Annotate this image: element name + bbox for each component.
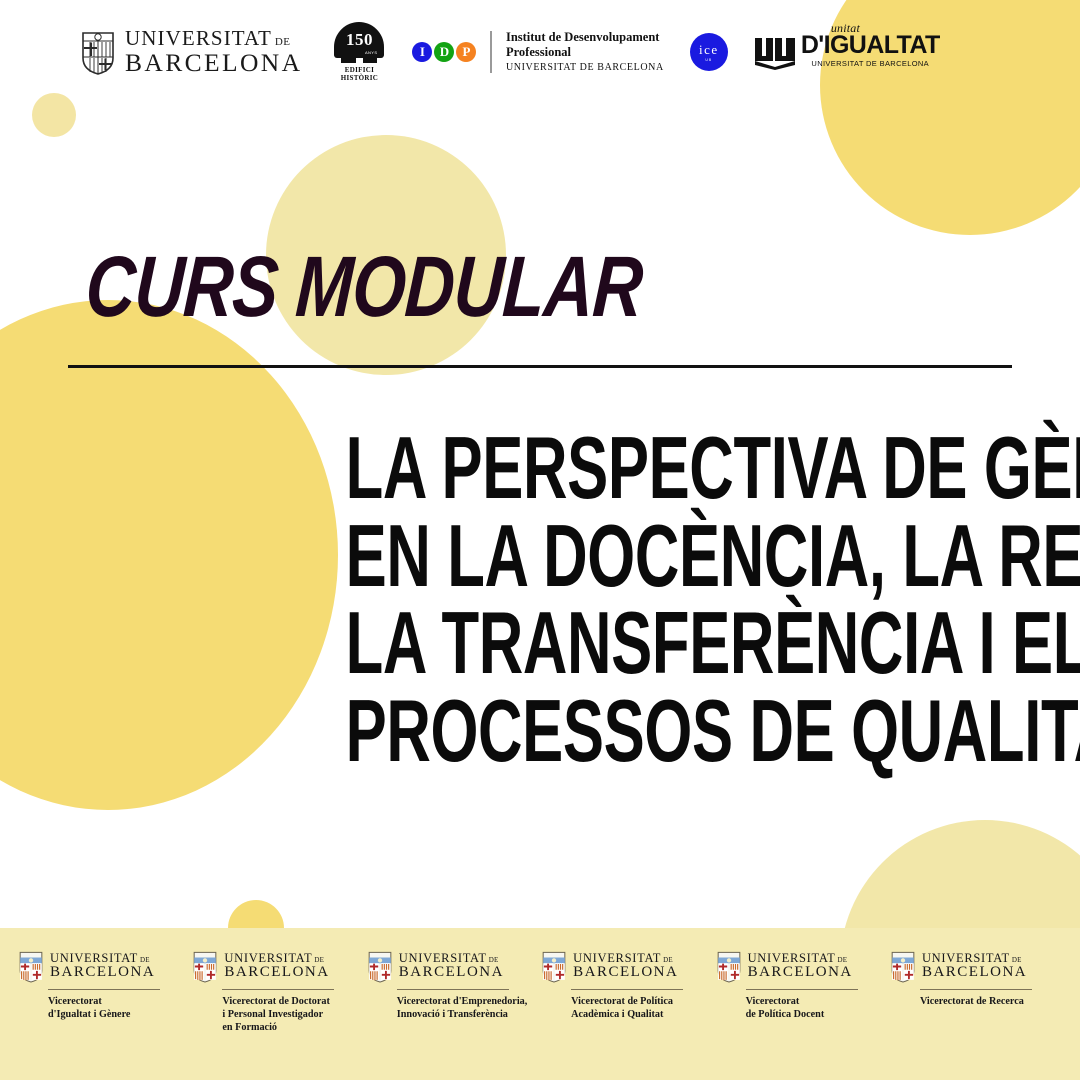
logo-edifici-historic-150: 150 ANYS EDIFICI HISTÒRIC — [334, 22, 384, 83]
kicker-curs-modular: CURS MODULAR — [84, 244, 645, 330]
headline-block: LA PERSPECTIVA DE GÈNERE EN LA DOCÈNCIA,… — [60, 424, 1012, 774]
dome-legs-icon — [334, 58, 384, 63]
open-book-icon — [754, 34, 798, 70]
idp-letter-d: D — [434, 42, 454, 62]
ub-line1-suffix: DE — [275, 37, 290, 48]
ub-line2: BARCELONA — [125, 50, 302, 76]
footer-logo-politica-docent: UNIVERSITAT DE BARCELONA Vicerectoratde … — [716, 950, 888, 1021]
footer-divider — [571, 989, 683, 990]
ub-shield-icon — [192, 950, 218, 983]
footer-logo-igualtat-genere: UNIVERSITAT DE BARCELONA Vicerectoratd'I… — [18, 950, 190, 1021]
ub-shield-icon — [80, 30, 116, 75]
idp-title-line1: Institut de Desenvolupament — [506, 30, 664, 45]
footer-divider — [222, 989, 334, 990]
ub-shield-icon — [716, 950, 742, 983]
edifici-caption-line1: EDIFICI — [341, 66, 378, 74]
ub-shield-icon — [367, 950, 393, 983]
logo-unitat-digualtat: unitat D'IGUALTAT UNIVERSITAT DE BARCELO… — [754, 34, 940, 70]
dome-icon: 150 ANYS — [334, 22, 384, 58]
logo-universitat-de-barcelona: UNIVERSITAT DE BARCELONA — [80, 28, 302, 75]
footer-ub-line2: BARCELONA — [399, 965, 504, 980]
footer-logo-doctorat: UNIVERSITAT DE BARCELONA Vicerectorat de… — [192, 950, 364, 1034]
footer-divider — [746, 989, 858, 990]
logo-idp: I D P — [412, 42, 476, 62]
idp-wordmark: Institut de Desenvolupament Professional… — [506, 30, 664, 75]
horizontal-rule — [68, 365, 1012, 368]
footer-ub-line2: BARCELONA — [50, 965, 155, 980]
idp-letter-i: I — [412, 42, 432, 62]
unitat-subtitle: UNIVERSITAT DE BARCELONA — [801, 59, 940, 68]
dome-number: 150 — [346, 30, 373, 50]
idp-title-line2: Professional — [506, 45, 664, 60]
header-logo-strip: UNIVERSITAT DE BARCELONA 150 ANYS EDIFIC… — [0, 0, 1080, 104]
ub-line1: UNIVERSITAT — [125, 28, 272, 49]
idp-letter-p: P — [456, 42, 476, 62]
logo-ice: ice UB — [690, 33, 728, 71]
footer-caption: Vicerectorat de Doctorati Personal Inves… — [222, 995, 329, 1034]
footer-caption: Vicerectorat de PolíticaAcadèmica i Qual… — [571, 995, 673, 1021]
footer-logo-band: UNIVERSITAT DE BARCELONA Vicerectoratd'I… — [0, 928, 1080, 1080]
footer-logo-politica-academica: UNIVERSITAT DE BARCELONA Vicerectorat de… — [541, 950, 713, 1021]
poster-root: UNIVERSITAT DE BARCELONA 150 ANYS EDIFIC… — [0, 0, 1080, 1080]
footer-logo-emprenedoria: UNIVERSITAT DE BARCELONA Vicerectorat d'… — [367, 950, 539, 1021]
edifici-caption-line2: HISTÒRIC — [341, 74, 378, 82]
digualtat-word: D'IGUALTAT — [801, 31, 940, 59]
footer-caption: Vicerectoratde Política Docent — [746, 995, 825, 1021]
footer-divider — [920, 989, 1032, 990]
footer-logo-recerca: UNIVERSITAT DE BARCELONA Vicerectorat de… — [890, 950, 1062, 1008]
ice-word: ice — [699, 43, 719, 56]
footer-ub-line2: BARCELONA — [922, 965, 1027, 980]
footer-caption: Vicerectorat de Recerca — [920, 995, 1024, 1008]
headline-line-1: LA PERSPECTIVA DE GÈNERE — [346, 424, 1012, 512]
footer-ub-line2: BARCELONA — [573, 965, 678, 980]
footer-ub-line2: BARCELONA — [748, 965, 853, 980]
ub-shield-icon — [541, 950, 567, 983]
footer-caption: Vicerectoratd'Igualtat i Gènere — [48, 995, 130, 1021]
headline-line-4: PROCESSOS DE QUALITAT — [346, 687, 1012, 775]
ub-shield-icon — [890, 950, 916, 983]
footer-ub-line2: BARCELONA — [224, 965, 329, 980]
footer-divider — [397, 989, 509, 990]
unitat-word: unitat — [831, 23, 860, 34]
ice-sub: UB — [705, 58, 712, 62]
footer-caption: Vicerectorat d'Emprenedoria,Innovació i … — [397, 995, 528, 1021]
headline-line-2: EN LA DOCÈNCIA, LA RECERCA, — [346, 512, 1012, 600]
idp-subtitle: UNIVERSITAT DE BARCELONA — [506, 62, 664, 74]
dome-anys: ANYS — [365, 50, 378, 55]
ub-shield-icon — [18, 950, 44, 983]
logo-divider — [490, 31, 492, 73]
footer-divider — [48, 989, 160, 990]
headline-line-3: LA TRANSFERÈNCIA I ELS — [346, 599, 1012, 687]
